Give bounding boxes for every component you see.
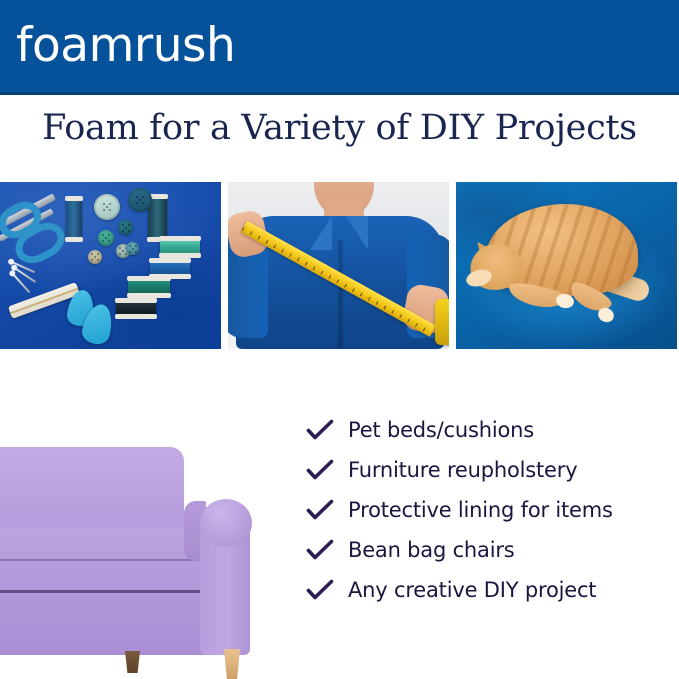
sofa-base	[0, 577, 212, 655]
button-disc	[126, 242, 139, 255]
sofa-seat-seam	[0, 559, 196, 561]
benefit-label: Bean bag chairs	[348, 538, 515, 562]
sofa-skirt-seam	[0, 590, 202, 593]
page-title: Foam for a Variety of DIY Projects	[0, 108, 679, 148]
check-icon	[306, 498, 348, 522]
thread-spool	[66, 198, 82, 240]
benefit-list: Pet beds/cushions Furniture reupholstery…	[306, 410, 679, 610]
thread-spool	[128, 278, 170, 296]
list-item: Protective lining for items	[306, 490, 679, 530]
benefit-label: Pet beds/cushions	[348, 418, 534, 442]
shirt-collar-left	[310, 216, 332, 250]
thread-spool	[116, 300, 156, 317]
tape-measure-case	[435, 299, 449, 345]
benefit-label: Any creative DIY project	[348, 578, 596, 602]
shirt-placket	[338, 240, 343, 348]
sofa-leg-front	[224, 649, 240, 679]
check-icon	[306, 538, 348, 562]
button-disc	[88, 250, 102, 264]
measuring-tape-photo	[228, 182, 449, 349]
thread-spool	[160, 238, 200, 256]
purple-sofa-illustration	[0, 444, 250, 679]
sofa-back-cushion	[0, 447, 184, 533]
button-disc	[98, 230, 114, 246]
brand-header-band: foamrush	[0, 0, 679, 95]
cat-on-cushion-photo	[456, 182, 677, 349]
check-icon	[306, 458, 348, 482]
shirt-collar-right	[346, 216, 368, 250]
check-icon	[306, 578, 348, 602]
benefit-label: Protective lining for items	[348, 498, 613, 522]
thread-spool	[150, 260, 190, 277]
check-icon	[306, 418, 348, 442]
sewing-supplies-photo	[0, 182, 221, 349]
button-disc	[128, 188, 152, 212]
photo-strip	[0, 182, 679, 349]
list-item: Any creative DIY project	[306, 570, 679, 610]
list-item: Furniture reupholstery	[306, 450, 679, 490]
list-item: Bean bag chairs	[306, 530, 679, 570]
benefit-label: Furniture reupholstery	[348, 458, 577, 482]
button-disc	[118, 220, 133, 235]
list-item: Pet beds/cushions	[306, 410, 679, 450]
button-disc	[94, 194, 120, 220]
brand-logo: foamrush	[16, 22, 235, 69]
sofa-leg-rear	[125, 651, 140, 673]
sofa-arm-roll	[200, 499, 252, 547]
